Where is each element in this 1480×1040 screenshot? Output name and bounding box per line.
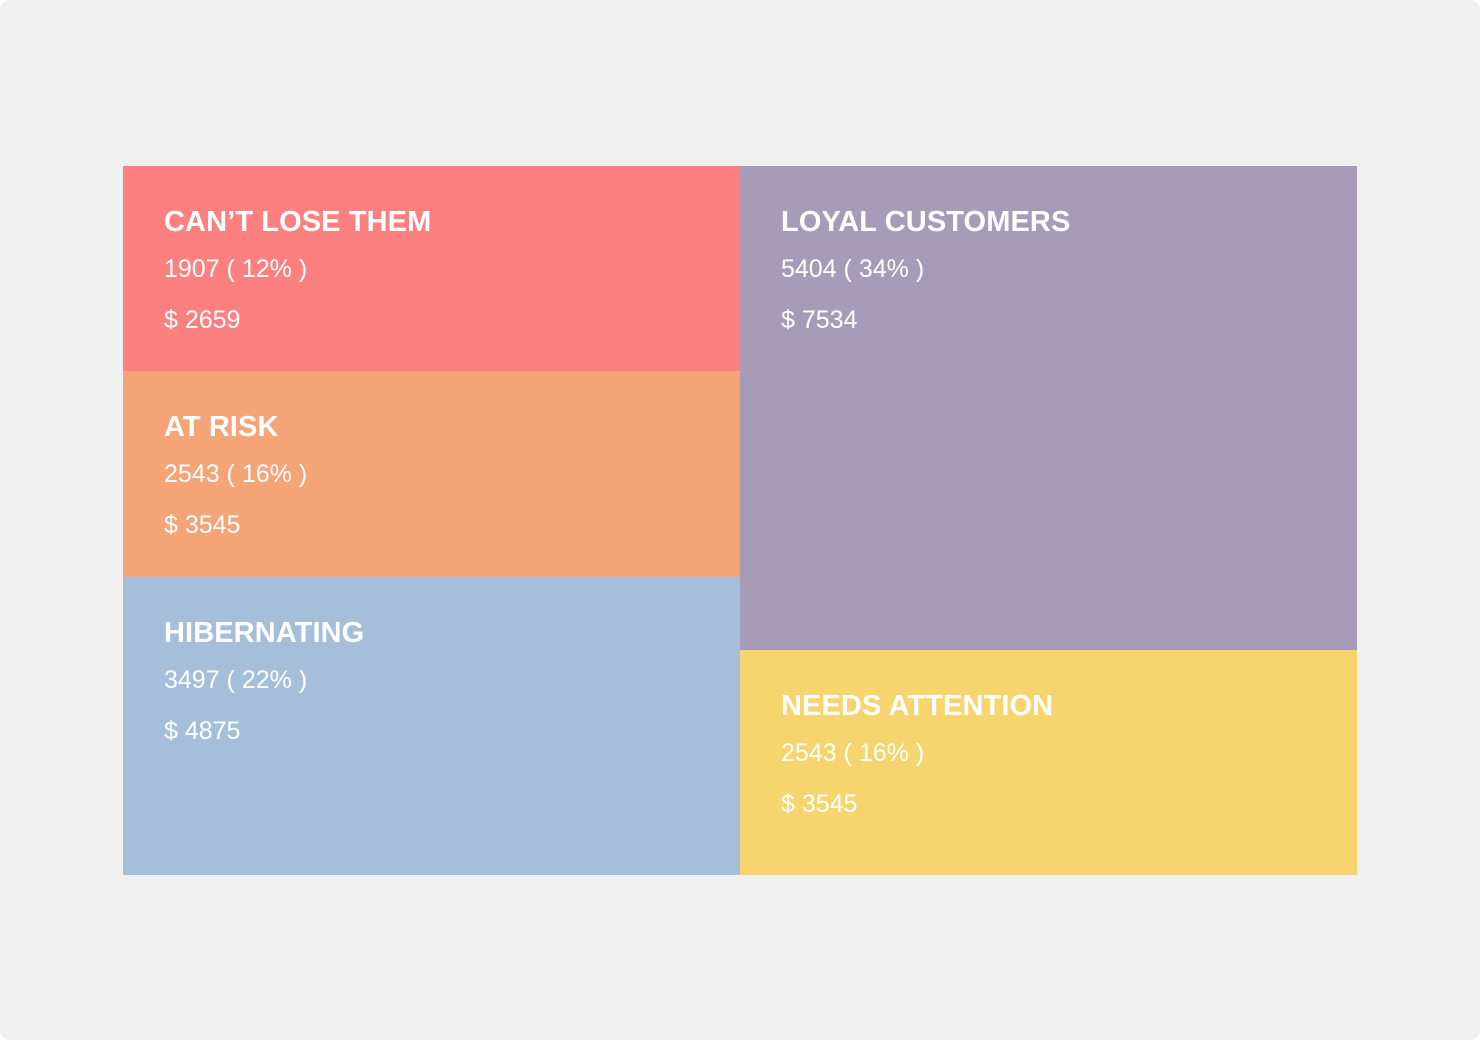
tile-monetary-needs-attention: $ 3545	[781, 792, 1347, 817]
tile-count-at-risk: 2543 ( 16% )	[164, 462, 730, 487]
tile-title-needs-attention: NEEDS ATTENTION	[781, 692, 1347, 721]
tile-title-cant-lose-them: CAN’T LOSE THEM	[164, 208, 730, 237]
rfm-segmentation-treemap: CAN’T LOSE THEM 1907 ( 12% ) $ 2659 AT R…	[123, 166, 1357, 875]
treemap-tile-needs-attention[interactable]: NEEDS ATTENTION 2543 ( 16% ) $ 3545	[740, 650, 1357, 875]
treemap-tile-cant-lose-them[interactable]: CAN’T LOSE THEM 1907 ( 12% ) $ 2659	[123, 166, 740, 371]
treemap-tile-loyal-customers[interactable]: LOYAL CUSTOMERS 5404 ( 34% ) $ 7534	[740, 166, 1357, 650]
tile-monetary-at-risk: $ 3545	[164, 513, 730, 538]
treemap-tile-at-risk[interactable]: AT RISK 2543 ( 16% ) $ 3545	[123, 371, 740, 577]
tile-count-loyal-customers: 5404 ( 34% )	[781, 257, 1347, 282]
tile-count-needs-attention: 2543 ( 16% )	[781, 741, 1347, 766]
tile-count-cant-lose-them: 1907 ( 12% )	[164, 257, 730, 282]
treemap-column-left: CAN’T LOSE THEM 1907 ( 12% ) $ 2659 AT R…	[123, 166, 740, 875]
tile-title-at-risk: AT RISK	[164, 413, 730, 442]
tile-content-cant-lose-them: CAN’T LOSE THEM 1907 ( 12% ) $ 2659	[164, 208, 730, 333]
tile-monetary-loyal-customers: $ 7534	[781, 308, 1347, 333]
tile-monetary-hibernating: $ 4875	[164, 719, 730, 744]
tile-count-hibernating: 3497 ( 22% )	[164, 668, 730, 693]
tile-content-needs-attention: NEEDS ATTENTION 2543 ( 16% ) $ 3545	[781, 692, 1347, 817]
tile-content-loyal-customers: LOYAL CUSTOMERS 5404 ( 34% ) $ 7534	[781, 208, 1347, 333]
treemap-tile-hibernating[interactable]: HIBERNATING 3497 ( 22% ) $ 4875	[123, 577, 740, 875]
page-canvas: CAN’T LOSE THEM 1907 ( 12% ) $ 2659 AT R…	[0, 0, 1480, 1040]
tile-content-hibernating: HIBERNATING 3497 ( 22% ) $ 4875	[164, 619, 730, 744]
tile-monetary-cant-lose-them: $ 2659	[164, 308, 730, 333]
tile-content-at-risk: AT RISK 2543 ( 16% ) $ 3545	[164, 413, 730, 538]
tile-title-loyal-customers: LOYAL CUSTOMERS	[781, 208, 1347, 237]
treemap-column-right: LOYAL CUSTOMERS 5404 ( 34% ) $ 7534 NEED…	[740, 166, 1357, 875]
tile-title-hibernating: HIBERNATING	[164, 619, 730, 648]
